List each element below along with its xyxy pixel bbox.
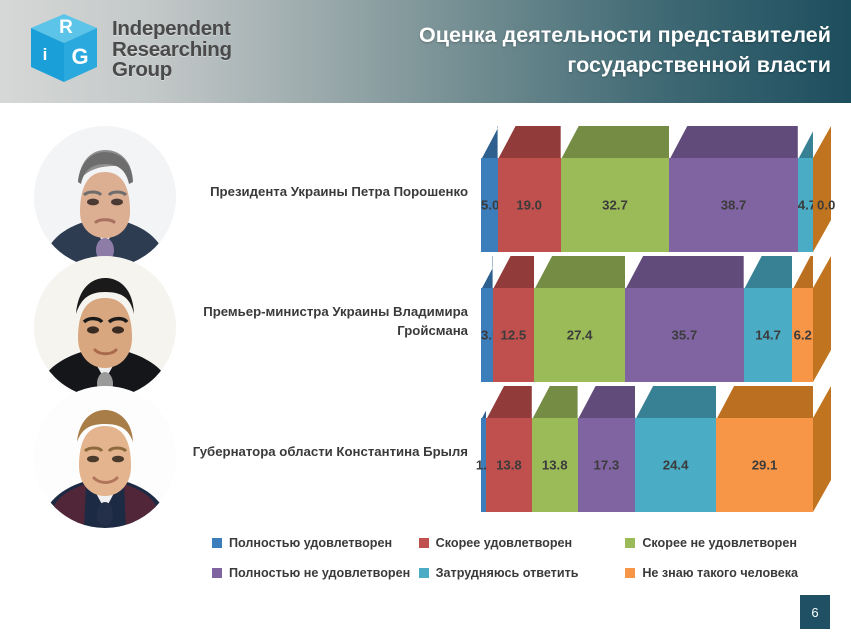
segment-rather-satisfied[interactable]: 19.0 — [498, 158, 561, 252]
bar-front-face: 1.5 13.8 13.8 17.3 24.4 29.1 — [481, 418, 813, 512]
svg-text:R: R — [59, 17, 73, 38]
legend-item-rather-unsatisfied[interactable]: Скорее не удовлетворен — [625, 536, 832, 550]
irg-cube-icon: R i G — [28, 12, 100, 88]
page-number-badge: 6 — [800, 595, 830, 629]
chart-row-bryl: Губернатора области Константина Брыля 1.… — [0, 380, 851, 510]
legend-label: Скорее удовлетворен — [436, 536, 573, 550]
logo-line-1: Independent — [112, 19, 232, 40]
chart-row-poroshenko: Президента Украины Петра Порошенко 5.0 1… — [0, 120, 851, 250]
segment-value: 27.4 — [534, 328, 625, 343]
svg-text:i: i — [43, 45, 48, 64]
row-label-bryl: Губернатора области Константина Брыля — [186, 380, 472, 522]
segment-rather-satisfied[interactable]: 12.5 — [493, 288, 535, 382]
page-title-line-1: Оценка деятельности представителей — [311, 20, 831, 50]
segment-value: 24.4 — [635, 458, 716, 473]
legend-swatch-icon — [419, 568, 429, 578]
segment-fully-unsatisfied[interactable]: 17.3 — [578, 418, 636, 512]
segment-value: 6.2 — [792, 328, 813, 343]
legend-swatch-icon — [419, 538, 429, 548]
segment-rather-unsatisfied[interactable]: 13.8 — [532, 418, 578, 512]
segment-value: 32.7 — [561, 198, 670, 213]
legend-label: Затрудняюсь ответить — [436, 566, 579, 580]
bar-top-face — [481, 256, 813, 290]
stacked-bar-bryl[interactable]: 1.5 13.8 13.8 17.3 24.4 29.1 — [481, 386, 831, 528]
segment-hard-to-answer[interactable]: 24.4 — [635, 418, 716, 512]
segment-unknown-person[interactable]: 6.2 — [792, 288, 813, 382]
logo: R i G Independent Researching Group — [28, 12, 232, 88]
stacked-bar-groysman[interactable]: 3.5 12.5 27.4 35.7 14.7 6.2 — [481, 256, 831, 398]
segment-value: 38.7 — [669, 198, 798, 213]
avatar-groysman — [34, 256, 176, 398]
segment-value: 13.8 — [486, 458, 532, 473]
stacked-bar-poroshenko[interactable]: 5.0 19.0 32.7 38.7 4.7 0.0 — [481, 126, 831, 268]
segment-value: 5.0 — [481, 198, 498, 213]
legend-swatch-icon — [212, 538, 222, 548]
row-label-groysman: Премьер-министра Украины Владимира Гройс… — [186, 250, 472, 392]
bar-front-face: 5.0 19.0 32.7 38.7 4.7 — [481, 158, 813, 252]
legend-label: Скорее не удовлетворен — [642, 536, 797, 550]
legend-label: Полностью удовлетворен — [229, 536, 392, 550]
segment-fully-satisfied[interactable]: 3.5 — [481, 288, 493, 382]
segment-value: 3.5 — [481, 328, 493, 343]
legend-item-rather-satisfied[interactable]: Скорее удовлетворен — [419, 536, 626, 550]
legend-item-unknown-person[interactable]: Не знаю такого человека — [625, 566, 832, 580]
slide-header: R i G Independent Researching Group Оцен… — [0, 0, 851, 103]
svg-text:G: G — [71, 44, 88, 69]
logo-line-3: Group — [112, 60, 232, 81]
segment-unknown-person[interactable]: 29.1 — [716, 418, 813, 512]
logo-line-2: Researching — [112, 40, 232, 61]
page-title: Оценка деятельности представителей госуд… — [311, 20, 831, 80]
legend-label: Не знаю такого человека — [642, 566, 798, 580]
segment-value: 19.0 — [498, 198, 561, 213]
segment-value: 12.5 — [493, 328, 535, 343]
slide: R i G Independent Researching Group Оцен… — [0, 0, 851, 637]
segment-value: 35.7 — [625, 328, 744, 343]
avatar-poroshenko — [34, 126, 176, 268]
segment-rather-unsatisfied[interactable]: 27.4 — [534, 288, 625, 382]
page-title-line-2: государственной власти — [311, 50, 831, 80]
bar-top-face — [481, 386, 813, 420]
chart-legend: Полностью удовлетворен Скорее удовлетвор… — [212, 536, 832, 580]
bar-top-face — [481, 126, 813, 160]
segment-hard-to-answer[interactable]: 14.7 — [744, 288, 793, 382]
segment-value: 29.1 — [716, 458, 813, 473]
bar-right-side-face — [813, 418, 831, 512]
legend-swatch-icon — [625, 538, 635, 548]
segment-fully-satisfied[interactable]: 5.0 — [481, 158, 498, 252]
logo-wordmark: Independent Researching Group — [112, 19, 232, 81]
chart-row-groysman: Премьер-министра Украины Владимира Гройс… — [0, 250, 851, 380]
segment-value: 13.8 — [532, 458, 578, 473]
avatar-bryl — [34, 386, 176, 528]
segment-value: 14.7 — [744, 328, 793, 343]
row-label-poroshenko: Президента Украины Петра Порошенко — [186, 120, 472, 262]
legend-swatch-icon — [625, 568, 635, 578]
bar-right-side-face — [813, 288, 831, 382]
segment-value: 4.7 — [798, 198, 813, 213]
bar-front-face: 3.5 12.5 27.4 35.7 14.7 6.2 — [481, 288, 813, 382]
legend-label: Полностью не удовлетворен — [229, 566, 410, 580]
legend-item-hard-to-answer[interactable]: Затрудняюсь ответить — [419, 566, 626, 580]
segment-rather-satisfied[interactable]: 13.8 — [486, 418, 532, 512]
segment-hard-to-answer[interactable]: 4.7 — [798, 158, 813, 252]
legend-item-fully-satisfied[interactable]: Полностью удовлетворен — [212, 536, 419, 550]
segment-value-unknown-person: 0.0 — [817, 198, 835, 213]
legend-item-fully-unsatisfied[interactable]: Полностью не удовлетворен — [212, 566, 419, 580]
legend-swatch-icon — [212, 568, 222, 578]
segment-value: 17.3 — [578, 458, 636, 473]
segment-fully-unsatisfied[interactable]: 38.7 — [669, 158, 798, 252]
segment-rather-unsatisfied[interactable]: 32.7 — [561, 158, 670, 252]
segment-fully-unsatisfied[interactable]: 35.7 — [625, 288, 744, 382]
